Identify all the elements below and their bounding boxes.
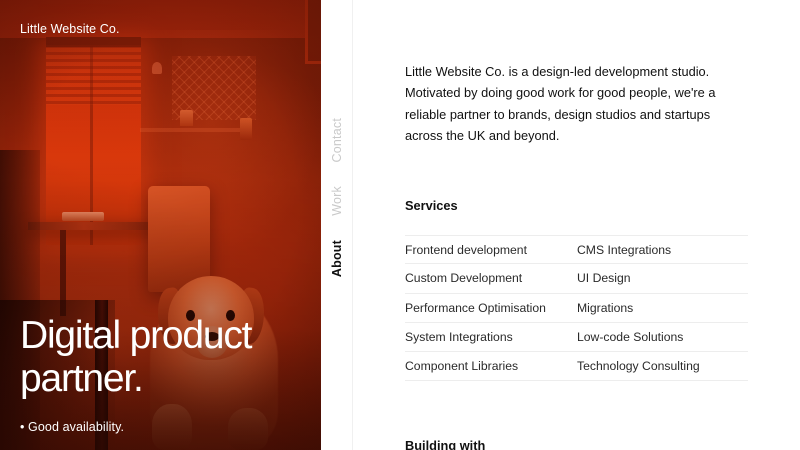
service-name: Custom Development — [405, 271, 577, 285]
intro-paragraph: Little Website Co. is a design-led devel… — [405, 61, 727, 147]
services-heading: Services — [405, 198, 458, 213]
service-name: Migrations — [577, 301, 748, 315]
table-row: System Integrations Low-code Solutions — [405, 323, 748, 352]
service-name: CMS Integrations — [577, 243, 748, 257]
hero-image-panel: Little Website Co. Digital product partn… — [0, 0, 321, 450]
hero-title: Digital product partner. — [20, 314, 320, 400]
building-with-heading: Building with — [405, 438, 485, 450]
service-name: Frontend development — [405, 243, 577, 257]
nav-item-about[interactable]: About — [330, 240, 344, 277]
services-table: Frontend development CMS Integrations Cu… — [405, 235, 748, 381]
service-name: UI Design — [577, 271, 748, 285]
vertical-nav: Contact Work About — [321, 0, 353, 450]
nav-item-work[interactable]: Work — [330, 186, 344, 216]
availability-status: • Good availability. — [20, 420, 320, 434]
site-logo[interactable]: Little Website Co. — [20, 22, 120, 36]
page-root: Little Website Co. Digital product partn… — [0, 0, 800, 450]
content-panel: Little Website Co. is a design-led devel… — [353, 0, 800, 450]
table-row: Component Libraries Technology Consultin… — [405, 352, 748, 381]
hero-copy: Digital product partner. • Good availabi… — [20, 314, 320, 434]
table-row: Custom Development UI Design — [405, 264, 748, 293]
service-name: Technology Consulting — [577, 359, 748, 373]
service-name: Low-code Solutions — [577, 330, 748, 344]
service-name: Performance Optimisation — [405, 301, 577, 315]
service-name: Component Libraries — [405, 359, 577, 373]
service-name: System Integrations — [405, 330, 577, 344]
table-row: Performance Optimisation Migrations — [405, 294, 748, 323]
nav-item-contact[interactable]: Contact — [330, 118, 344, 162]
table-row: Frontend development CMS Integrations — [405, 235, 748, 264]
